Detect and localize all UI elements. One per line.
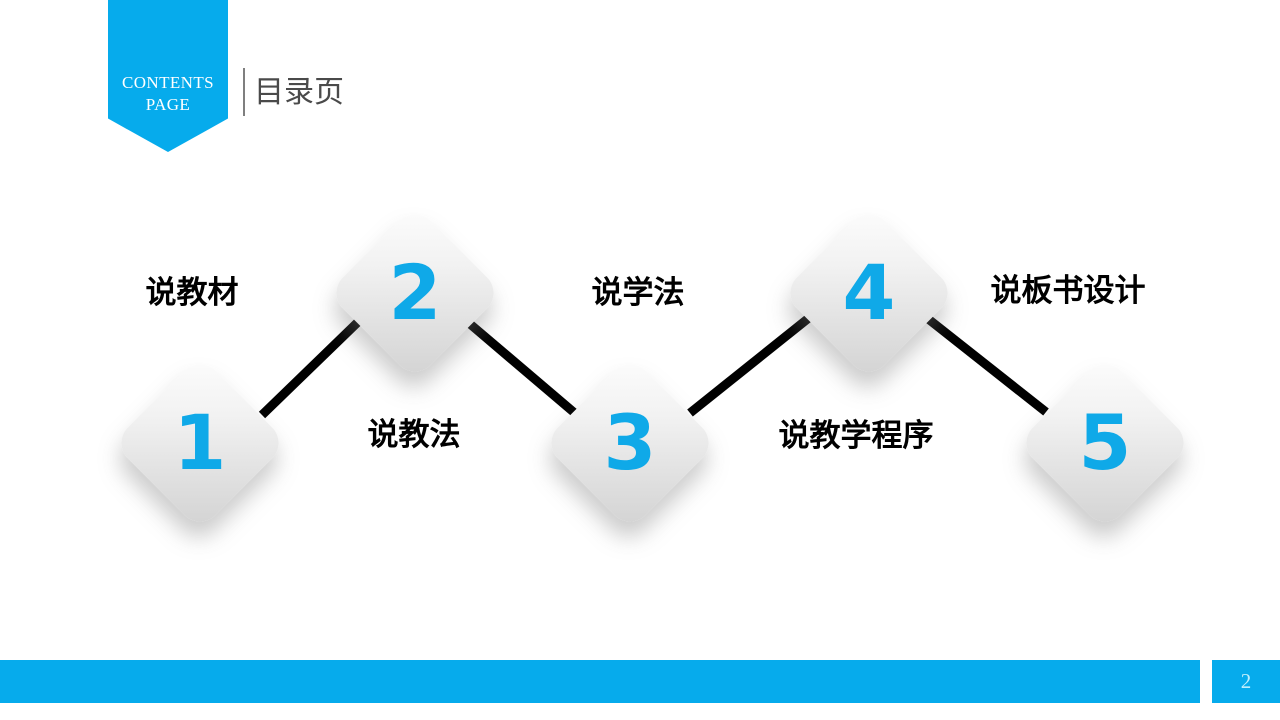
process-diagram: 1说教材2说教法3说学法4说教学程序5说板书设计 [0, 0, 1280, 720]
diamond-node-number-1: 1 [138, 381, 262, 505]
node-label-2: 说教法 [368, 417, 461, 453]
page-number: 2 [1212, 660, 1280, 703]
node-label-1: 说教材 [146, 275, 239, 311]
diamond-node-number-5: 5 [1043, 381, 1167, 505]
connector-line-2-to-3 [470, 324, 577, 415]
connector-lines [0, 0, 1280, 720]
diamond-node-number-4: 4 [807, 231, 931, 355]
diamond-node-number-2: 2 [353, 231, 477, 355]
node-label-5: 说板书设计 [991, 273, 1146, 309]
connector-line-3-to-4 [690, 317, 810, 413]
diamond-node-number-3: 3 [568, 381, 692, 505]
footer-bar [0, 660, 1200, 703]
node-label-3: 说学法 [592, 275, 685, 311]
node-label-4: 说教学程序 [779, 418, 934, 454]
connector-line-1-to-2 [262, 322, 358, 415]
connector-line-4-to-5 [927, 318, 1046, 412]
